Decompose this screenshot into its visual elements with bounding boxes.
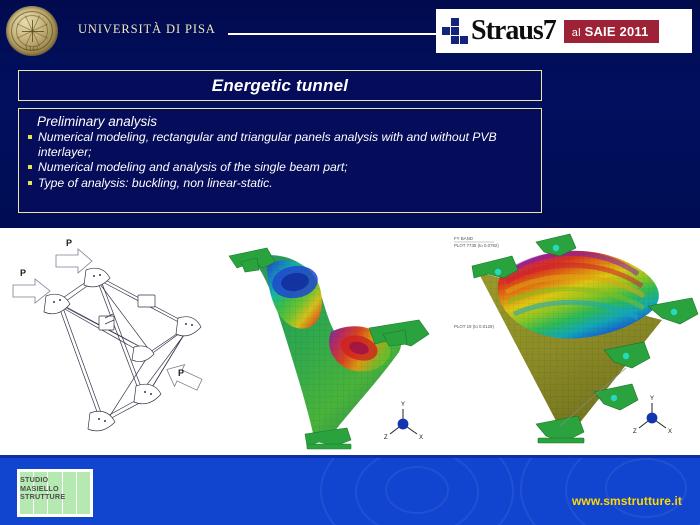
event-badge: al SAIE 2011 xyxy=(564,20,659,43)
slide-title-box: Energetic tunnel xyxy=(18,70,542,101)
svg-text:Z: Z xyxy=(384,435,388,441)
slide-footer xyxy=(0,458,700,525)
bullet-list: Numerical modeling, rectangular and tria… xyxy=(27,130,533,190)
university-name: UNIVERSITÀ DI PISA xyxy=(78,22,216,37)
content-subheading: Preliminary analysis xyxy=(37,114,533,129)
header-divider-rule xyxy=(228,33,438,35)
website-link[interactable]: www.smstrutture.it xyxy=(572,494,682,508)
straus7-logo-block: Straus7 al SAIE 2011 xyxy=(436,9,692,53)
list-item: Type of analysis: buckling, non linear-s… xyxy=(27,176,533,191)
fea-saddle-contour-panel: FY BAND PLOT 7735 (to 0.0792) PLOT 19 (t… xyxy=(448,228,700,458)
fea-buckling-contour-panel: Y Z X xyxy=(223,228,445,458)
seal-year: 1343 xyxy=(6,46,58,52)
svg-text:Z: Z xyxy=(633,429,637,435)
svg-text:X: X xyxy=(419,435,423,441)
page-title: Energetic tunnel xyxy=(212,76,348,96)
structural-wireframe-diagram: P P P xyxy=(0,228,205,458)
load-label: P xyxy=(66,238,72,248)
university-seal-icon: 1343 xyxy=(6,6,58,56)
slide-header: 1343 UNIVERSITÀ DI PISA Straus7 al SAIE … xyxy=(0,0,700,62)
svg-text:Y: Y xyxy=(401,402,405,408)
load-label: P xyxy=(178,368,184,378)
straus7-squares-icon xyxy=(442,18,468,44)
figure-annotation: PLOT 19 (to 0.0129) xyxy=(454,324,494,329)
presentation-slide: 1343 UNIVERSITÀ DI PISA Straus7 al SAIE … xyxy=(0,0,700,525)
load-label: P xyxy=(20,268,26,278)
figure-annotation: FY BAND xyxy=(454,236,473,241)
event-badge-text: SAIE 2011 xyxy=(585,24,649,39)
figures-row: P P P xyxy=(0,228,700,458)
figure-annotation: PLOT 7735 (to 0.0792) xyxy=(454,243,499,248)
studio-masiello-logo: STUDIO MASIELLO STRUTTURE xyxy=(17,469,93,517)
list-item: Numerical modeling and analysis of the s… xyxy=(27,160,533,175)
svg-text:X: X xyxy=(668,429,672,435)
svg-text:Y: Y xyxy=(650,396,654,402)
slide-content-box: Preliminary analysis Numerical modeling,… xyxy=(18,108,542,213)
studio-logo-line: STRUTTURE xyxy=(20,493,91,502)
list-item: Numerical modeling, rectangular and tria… xyxy=(27,130,533,159)
event-badge-prefix: al xyxy=(572,27,581,39)
brand-name: Straus7 xyxy=(471,17,556,45)
